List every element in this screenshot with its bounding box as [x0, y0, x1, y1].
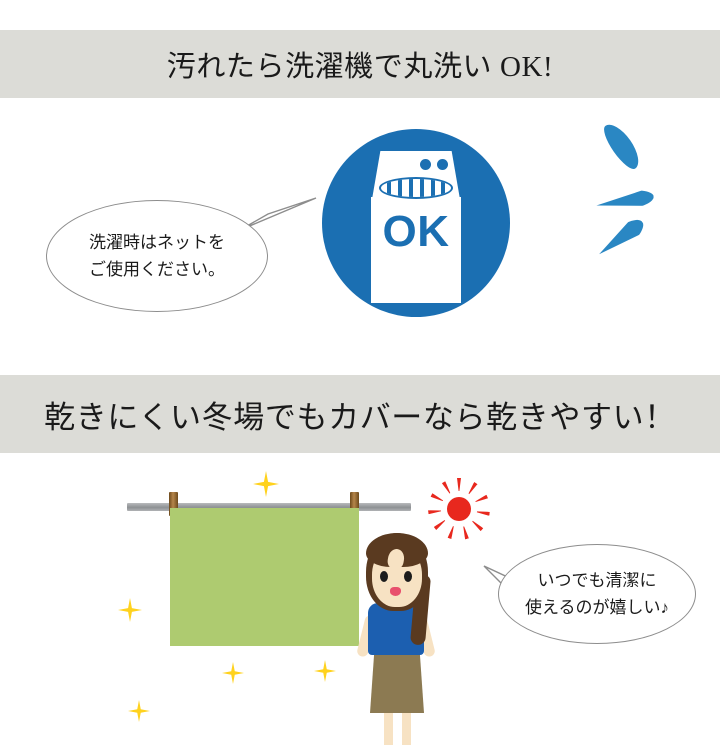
- splash-drop: [593, 214, 648, 264]
- water-splash-icon: [588, 136, 688, 284]
- leg: [402, 709, 411, 745]
- ok-label: OK: [362, 207, 470, 257]
- eye: [380, 571, 388, 582]
- sparkle-icon: [314, 660, 336, 682]
- bubble-always-clean-line1: いつでも清潔に: [538, 570, 657, 591]
- sun-core: [447, 497, 471, 521]
- skirt: [370, 651, 424, 713]
- sparkle-icon: [118, 598, 142, 622]
- sparkle-icon: [253, 471, 279, 497]
- bubble-use-net: 洗濯時はネットを ご使用ください。: [46, 200, 268, 312]
- sparkle-icon: [222, 662, 244, 684]
- leg: [384, 709, 393, 745]
- splash-drop: [595, 187, 655, 214]
- hanging-cover-cloth: [170, 508, 359, 646]
- bubble-use-net-line2: ご使用ください。: [89, 259, 225, 280]
- machine-drum-icon: [379, 177, 453, 199]
- banner-dries-fast-text: 乾きにくい冬場でもカバーなら乾きやすい！: [44, 392, 676, 437]
- sparkle-icon: [128, 700, 150, 722]
- bubble-use-net-line1: 洗濯時はネットを: [89, 232, 225, 253]
- promo-graphic: 汚れたら洗濯機で丸洗い OK! OK 洗濯時はネットを ご使用くださ: [0, 0, 720, 720]
- mouth: [390, 587, 401, 596]
- banner-washable: 汚れたら洗濯機で丸洗い OK!: [0, 30, 720, 98]
- banner-washable-text: 汚れたら洗濯機で丸洗い OK!: [167, 43, 554, 85]
- bubble-always-clean: いつでも清潔に 使えるのが嬉しい♪: [498, 544, 696, 644]
- eye: [404, 571, 412, 582]
- woman-figure: [358, 531, 446, 720]
- bubble-always-clean-line2: 使えるのが嬉しい♪: [525, 597, 669, 618]
- washing-machine-icon: OK: [362, 151, 470, 303]
- banner-dries-fast: 乾きにくい冬場でもカバーなら乾きやすい！: [0, 375, 720, 453]
- washing-machine-badge: OK: [322, 129, 510, 317]
- splash-drop: [599, 119, 645, 173]
- machine-knob-icon: [420, 159, 431, 170]
- machine-knob-icon: [437, 159, 448, 170]
